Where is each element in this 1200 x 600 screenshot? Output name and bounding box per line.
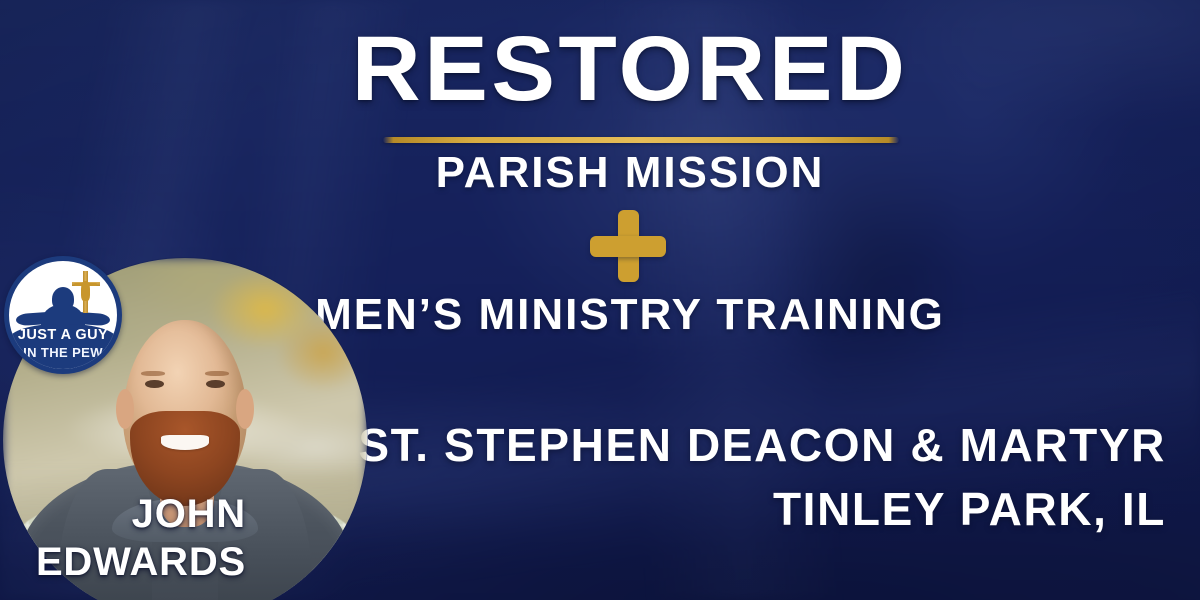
venue-location-block: TINLEY PARK, IL <box>773 482 1166 536</box>
venue-name-block: ST. STEPHEN DEACON & MARTYR <box>358 418 1166 472</box>
gold-crucifix-icon <box>72 271 100 313</box>
logo-text-panel: JUST A GUY IN THE PEW <box>9 324 117 369</box>
logo-line-two: IN THE PEW <box>9 345 117 360</box>
gold-divider-rule <box>383 137 899 143</box>
logo-line-one: JUST A GUY <box>9 327 117 343</box>
speaker-name-block: JOHN EDWARDS <box>26 494 246 583</box>
page-title: RESTORED <box>318 24 942 114</box>
subtitle-parish-mission: PARISH MISSION <box>330 150 930 197</box>
brand-logo-badge[interactable]: JUST A GUY IN THE PEW <box>4 256 122 374</box>
venue-location: TINLEY PARK, IL <box>773 482 1166 536</box>
crucifix-corpus <box>81 281 90 301</box>
subtitle-mens-ministry-training: MEN’S MINISTRY TRAINING <box>300 292 960 339</box>
subtitle-one-block: PARISH MISSION <box>330 150 930 197</box>
event-banner: RESTORED PARISH MISSION MEN’S MINISTRY T… <box>0 0 1200 600</box>
logo-inner-circle: JUST A GUY IN THE PEW <box>9 261 117 369</box>
venue-name: ST. STEPHEN DEACON & MARTYR <box>358 418 1166 472</box>
speaker-last-name: EDWARDS <box>26 542 246 584</box>
speaker-first-name: JOHN <box>26 494 246 536</box>
plus-horizontal-bar <box>590 236 666 257</box>
gold-plus-icon <box>590 210 666 282</box>
headline-block: RESTORED <box>330 24 930 114</box>
subtitle-two-block: MEN’S MINISTRY TRAINING <box>300 292 960 339</box>
